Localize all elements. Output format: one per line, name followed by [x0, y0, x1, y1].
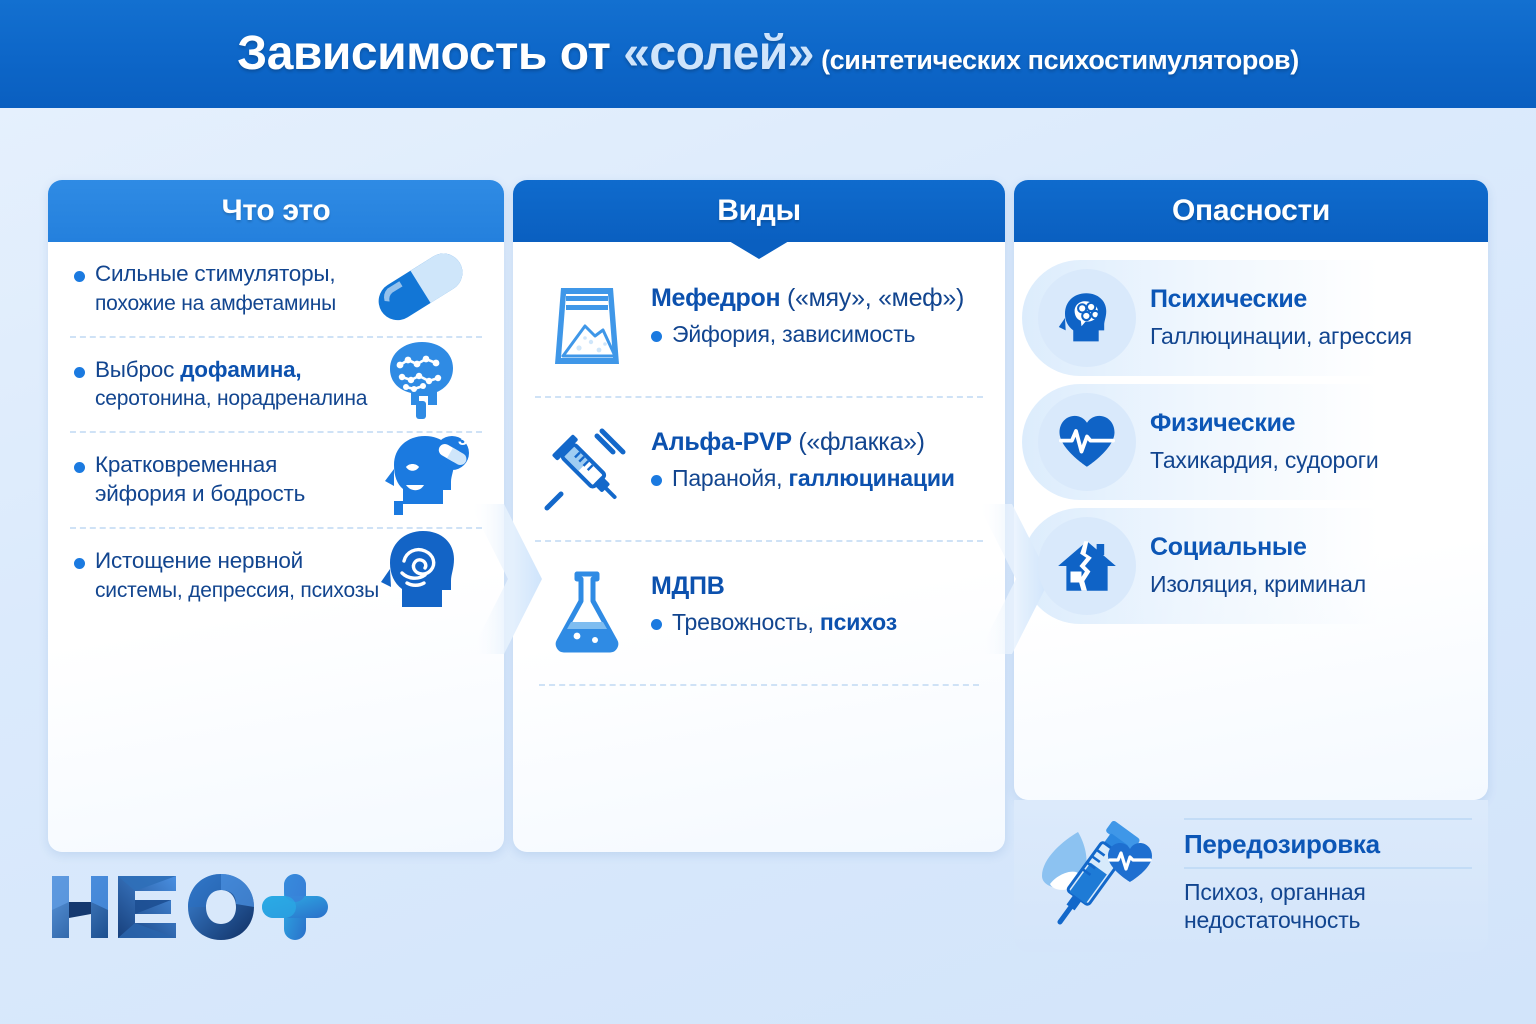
page-title: Зависимость от «солей» (синтетических пс…	[237, 30, 1299, 78]
type-name: Мефедрон («мяу», «меф»)	[651, 284, 964, 313]
type-effect: Тревожность, психоз	[651, 609, 897, 636]
list-item: Социальные Изоляция, криминал	[1036, 504, 1466, 628]
list-item-lead: Сильные стимуляторы,	[95, 261, 335, 286]
overdose-desc: Психоз, органная недостаточность	[1184, 878, 1472, 934]
list-item-text: Социальные Изоляция, криминал	[1150, 533, 1366, 600]
card-types: Виды	[513, 180, 1005, 852]
type-name: Альфа-PVP («флакка»)	[651, 428, 955, 457]
list-item: Мефедрон («мяу», «меф») Эйфория, зависим…	[535, 242, 983, 396]
bullet-dot-icon	[651, 331, 662, 342]
head-brain-icon	[1038, 269, 1136, 367]
type-effect-text: Тревожность, психоз	[672, 609, 897, 636]
type-effect-text: Эйфория, зависимость	[672, 321, 915, 348]
type-name-alias: («мяу», «меф»)	[780, 284, 964, 312]
list-item-lead: Истощение нервной	[95, 548, 303, 573]
list-item-text: Альфа-PVP («флакка») Паранойя, галлюцина…	[651, 420, 955, 492]
bullet-dot-icon	[74, 462, 85, 473]
overdose-desc-line2: недостаточность	[1184, 907, 1360, 933]
type-name-main: МДПВ	[651, 572, 724, 600]
list-item-text: Кратковременная эйфория и бодрость	[95, 451, 305, 509]
danger-title: Физические	[1150, 409, 1379, 438]
type-effect: Паранойя, галлюцинации	[651, 465, 955, 492]
powder-bag-icon	[539, 276, 635, 372]
overdose-panel: Передозировка Психоз, органная недостато…	[1014, 800, 1488, 952]
list-item-text: Выброс дофамина, серотонина, норадренали…	[95, 356, 367, 414]
card-what-header: Что это	[48, 180, 504, 242]
card-dangers-header: Опасности	[1014, 180, 1488, 242]
overdose-title: Передозировка	[1184, 829, 1472, 869]
list-item-lead-bold: дофамина,	[180, 357, 301, 382]
broken-house-icon	[1038, 517, 1136, 615]
card-dangers: Опасности Психические	[1014, 180, 1488, 800]
list-item-text: Мефедрон («мяу», «меф») Эйфория, зависим…	[651, 276, 964, 348]
card-what-is-it: Что это Сильные стимуляторы, похожие на …	[48, 180, 504, 852]
card-types-body: Мефедрон («мяу», «меф») Эйфория, зависим…	[513, 242, 1005, 686]
list-item-lead: Кратковременная	[95, 452, 277, 477]
infographic-board: Что это Сильные стимуляторы, похожие на …	[0, 108, 1536, 1024]
type-name-main: Мефедрон	[651, 284, 780, 312]
list-item-rest: эйфория и бодрость	[95, 481, 305, 506]
list-item-text: Физические Тахикардия, судороги	[1150, 409, 1379, 476]
card-what-title: Что это	[222, 194, 331, 228]
page-title-quoted: «солей»	[623, 27, 814, 80]
type-effect-text: Паранойя, галлюцинации	[672, 465, 955, 492]
type-effect: Эйфория, зависимость	[651, 321, 964, 348]
heart-pulse-icon	[1038, 393, 1136, 491]
list-item: Психические Галлюцинации, агрессия	[1036, 256, 1466, 380]
card-what-body: Сильные стимуляторы, похожие на амфетами…	[48, 242, 504, 623]
bullet-dot-icon	[651, 475, 662, 486]
list-item: Альфа-PVP («флакка») Паранойя, галлюцина…	[535, 396, 983, 540]
type-effect-plain: Тревожность,	[672, 609, 820, 635]
type-effect-bold: галлюцинации	[788, 465, 954, 491]
type-name-alias: («флакка»)	[792, 428, 925, 456]
bullet-dot-icon	[74, 558, 85, 569]
syringe-icon	[539, 420, 635, 516]
overdose-text: Передозировка Психоз, органная недостато…	[1180, 818, 1472, 934]
danger-title: Социальные	[1150, 533, 1366, 562]
type-effect-plain: Паранойя,	[672, 465, 788, 491]
list-item-text: Сильные стимуляторы, похожие на амфетами…	[95, 260, 336, 318]
list-item-text: МДПВ Тревожность, психоз	[651, 564, 897, 636]
list-item: Истощение нервной системы, депрессия, пс…	[70, 527, 482, 623]
danger-desc: Изоляция, криминал	[1150, 571, 1366, 598]
page-header-banner: Зависимость от «солей» (синтетических пс…	[0, 0, 1536, 108]
list-item: Сильные стимуляторы, похожие на амфетами…	[70, 242, 482, 336]
type-effect-bold: психоз	[820, 609, 897, 635]
page-title-subtitle: (синтетических психостимуляторов)	[814, 45, 1299, 75]
list-item-rest: похожие на амфетамины	[95, 292, 336, 315]
bullet-dot-icon	[74, 271, 85, 282]
list-item-rest: серотонина, норадреналина	[95, 387, 367, 410]
svg-text:3: 3	[458, 430, 467, 449]
section-divider	[539, 684, 979, 686]
neo-plus-logo	[48, 868, 338, 952]
list-item: Кратковременная эйфория и бодрость	[70, 431, 482, 527]
danger-title: Психические	[1150, 285, 1412, 314]
page-title-main: Зависимость от	[237, 27, 623, 80]
bullet-dot-icon	[651, 619, 662, 630]
danger-desc: Тахикардия, судороги	[1150, 447, 1379, 474]
list-item: Физические Тахикардия, судороги	[1036, 380, 1466, 504]
list-item: Выброс дофамина, серотонина, норадренали…	[70, 336, 482, 432]
list-item-text: Истощение нервной системы, депрессия, пс…	[95, 547, 379, 605]
card-dangers-title: Опасности	[1172, 194, 1330, 228]
card-types-header: Виды	[513, 180, 1005, 242]
flask-icon	[539, 564, 635, 660]
list-item-rest: системы, депрессия, психозы	[95, 579, 379, 602]
type-name-main: Альфа-PVP	[651, 428, 792, 456]
type-name: МДПВ	[651, 572, 897, 601]
list-item-text: Психические Галлюцинации, агрессия	[1150, 285, 1412, 352]
syringe-heart-icon	[1024, 810, 1174, 942]
list-item: МДПВ Тревожность, психоз	[535, 540, 983, 684]
danger-desc: Галлюцинации, агрессия	[1150, 323, 1412, 350]
overdose-desc-line1: Психоз, органная	[1184, 879, 1366, 905]
list-item-lead: Выброс	[95, 357, 180, 382]
card-dangers-body: Психические Галлюцинации, агрессия Физич…	[1014, 242, 1488, 628]
type-effect-plain: Эйфория, зависимость	[672, 321, 915, 347]
bullet-dot-icon	[74, 367, 85, 378]
card-types-title: Виды	[717, 194, 801, 228]
